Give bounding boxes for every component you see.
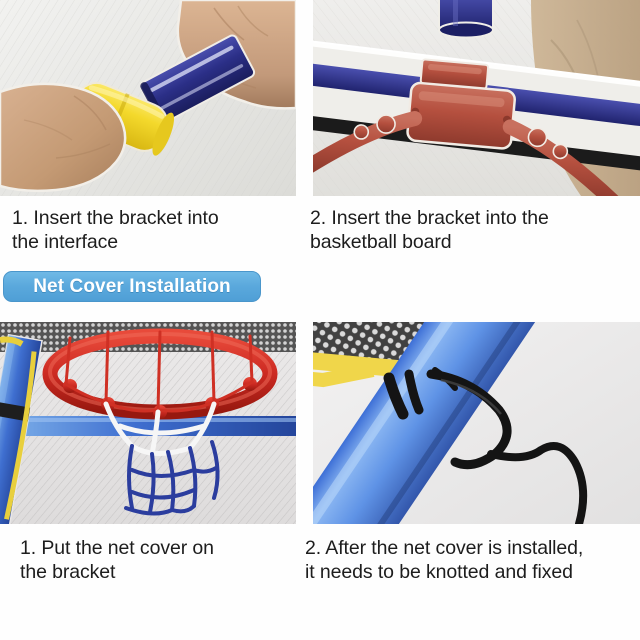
photo-illustration-rim-and-net <box>0 322 296 524</box>
photo-illustration-straps-on-pole <box>313 322 640 524</box>
caption-step-1-insert-bracket-interface: 1. Insert the bracket into the interface <box>12 206 297 254</box>
photo-illustration-backboard-bracket <box>313 0 640 196</box>
section-banner-label: Net Cover Installation <box>33 276 231 298</box>
section-banner-net-cover-installation: Net Cover Installation <box>3 271 261 302</box>
photo-put-net-cover-on-bracket <box>0 322 296 524</box>
photo-insert-bracket-into-basketball-board <box>313 0 640 196</box>
instruction-sheet: 1. Insert the bracket into the interface… <box>0 0 640 640</box>
caption-step-1-put-net-cover-on-bracket: 1. Put the net cover on the bracket <box>20 536 300 584</box>
caption-step-2-knot-and-fix: 2. After the net cover is installed, it … <box>305 536 640 584</box>
photo-knot-and-fix-net-cover <box>313 322 640 524</box>
photo-insert-bracket-into-interface <box>0 0 296 196</box>
photo-illustration-hands-tubes <box>0 0 296 196</box>
caption-step-2-insert-bracket-board: 2. Insert the bracket into the basketbal… <box>310 206 640 254</box>
